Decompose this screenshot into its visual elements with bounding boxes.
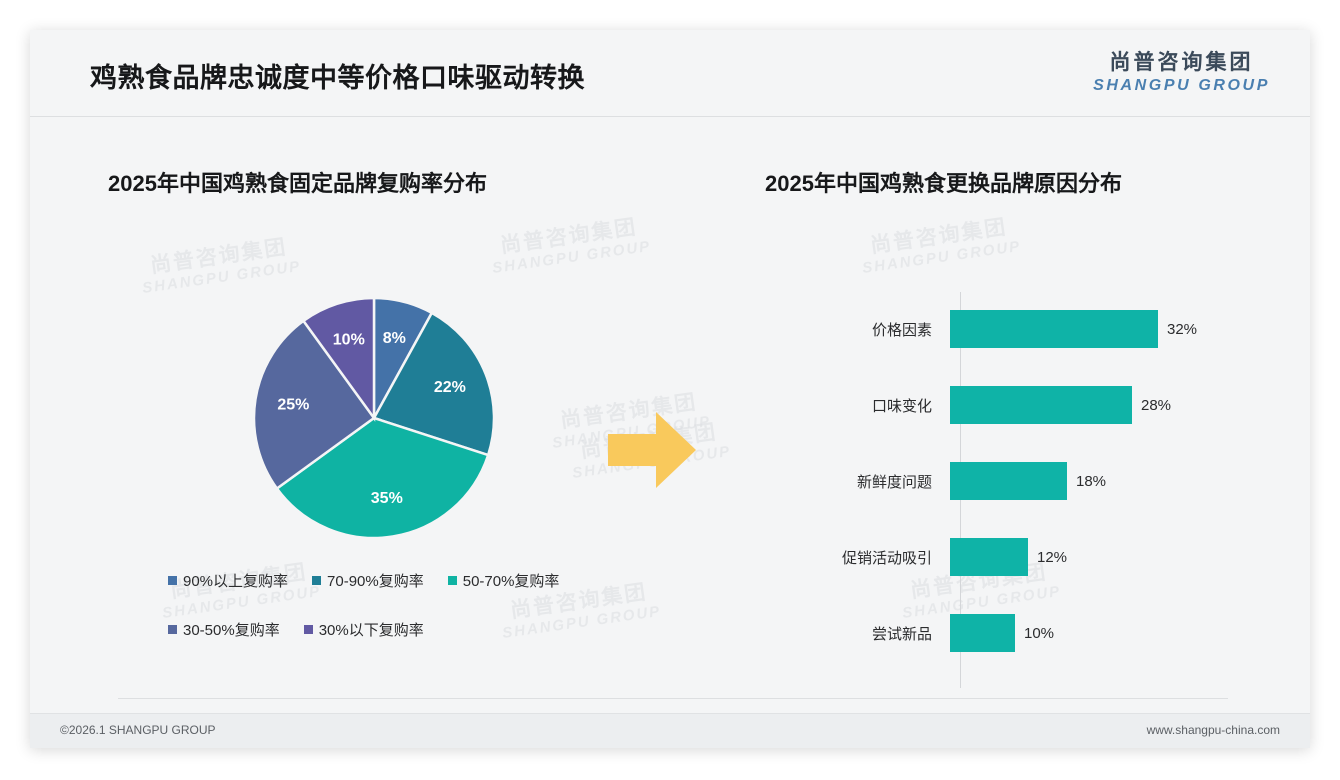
bar-value-label: 18% (1076, 473, 1106, 490)
bar-track: 12% (950, 538, 1275, 576)
bar-track: 18% (950, 462, 1275, 500)
footnote-divider (118, 698, 1228, 699)
bar-fill (950, 462, 1067, 500)
logo-english-text: SHANGPU GROUP (1093, 78, 1270, 94)
pie-chart-title: 2025年中国鸡熟食固定品牌复购率分布 (108, 166, 487, 198)
bar-category-label: 口味变化 (765, 395, 950, 416)
watermark-en: SHANGPU GROUP (491, 238, 652, 277)
bar-fill (950, 310, 1158, 348)
bar-value-label: 12% (1037, 549, 1067, 566)
arrow-right-icon (608, 408, 696, 492)
brand-logo: 尚普咨询集团 SHANGPU GROUP (1093, 52, 1270, 94)
bar-track: 28% (950, 386, 1275, 424)
bar-category-label: 促销活动吸引 (765, 547, 950, 568)
pie-chart-legend: 90%以上复购率70-90%复购率50-70%复购率 30-50%复购率30%以… (168, 570, 618, 640)
bar-fill (950, 538, 1028, 576)
legend-swatch (304, 625, 313, 634)
legend-item[interactable]: 30-50%复购率 (168, 619, 280, 640)
bar-chart-row: 尝试新品10% (765, 614, 1275, 652)
legend-item[interactable]: 90%以上复购率 (168, 570, 288, 591)
watermark: 尚普咨询集团 SHANGPU GROUP (858, 214, 1022, 277)
legend-row: 90%以上复购率70-90%复购率50-70%复购率 (168, 570, 618, 591)
watermark-cn: 尚普咨询集团 (138, 234, 300, 280)
pie-chart: 8%22%35%25%10% (252, 296, 496, 540)
legend-item[interactable]: 50-70%复购率 (448, 570, 560, 591)
bar-value-label: 32% (1167, 321, 1197, 338)
legend-row: 30-50%复购率30%以下复购率 (168, 619, 618, 640)
legend-label: 30%以下复购率 (319, 619, 424, 640)
legend-item[interactable]: 30%以下复购率 (304, 619, 424, 640)
watermark-cn: 尚普咨询集团 (858, 214, 1020, 260)
arrow-right-glyph (608, 408, 696, 492)
bar-chart-row: 口味变化28% (765, 386, 1275, 424)
bar-chart-row: 促销活动吸引12% (765, 538, 1275, 576)
watermark: 尚普咨询集团 SHANGPU GROUP (138, 234, 302, 297)
bar-track: 10% (950, 614, 1275, 652)
pie-slice-label: 25% (277, 396, 309, 413)
slide-header: 鸡熟食品牌忠诚度中等价格口味驱动转换 尚普咨询集团 SHANGPU GROUP (30, 30, 1310, 117)
bar-chart-row: 价格因素32% (765, 310, 1275, 348)
bar-fill (950, 386, 1132, 424)
bar-category-label: 尝试新品 (765, 623, 950, 644)
pie-slice-label: 35% (371, 490, 403, 507)
pie-chart-svg: 8%22%35%25%10% (252, 296, 496, 540)
legend-swatch (168, 576, 177, 585)
bar-chart-title: 2025年中国鸡熟食更换品牌原因分布 (765, 166, 1122, 198)
legend-swatch (168, 625, 177, 634)
bar-chart: 价格因素32%口味变化28%新鲜度问题18%促销活动吸引12%尝试新品10% (765, 292, 1275, 688)
watermark-cn: 尚普咨询集团 (488, 214, 650, 260)
slide-footer: ©2026.1 SHANGPU GROUP www.shangpu-china.… (30, 713, 1310, 748)
legend-item[interactable]: 70-90%复购率 (312, 570, 424, 591)
bar-value-label: 10% (1024, 625, 1054, 642)
bar-value-label: 28% (1141, 397, 1171, 414)
slide-canvas: 尚普咨询集团 SHANGPU GROUP 尚普咨询集团 SHANGPU GROU… (30, 30, 1310, 748)
page-title: 鸡熟食品牌忠诚度中等价格口味驱动转换 (90, 56, 585, 95)
legend-label: 30-50%复购率 (183, 619, 280, 640)
bar-category-label: 价格因素 (765, 319, 950, 340)
legend-label: 50-70%复购率 (463, 570, 560, 591)
pie-slice-label: 10% (333, 332, 365, 349)
copyright-text: ©2026.1 SHANGPU GROUP (60, 723, 216, 737)
watermark: 尚普咨询集团 SHANGPU GROUP (488, 214, 652, 277)
legend-label: 90%以上复购率 (183, 570, 288, 591)
logo-chinese-text: 尚普咨询集团 (1093, 52, 1270, 73)
website-link[interactable]: www.shangpu-china.com (1147, 723, 1280, 737)
legend-label: 70-90%复购率 (327, 570, 424, 591)
bar-chart-row: 新鲜度问题18% (765, 462, 1275, 500)
bar-track: 32% (950, 310, 1275, 348)
legend-swatch (312, 576, 321, 585)
bar-category-label: 新鲜度问题 (765, 471, 950, 492)
watermark-en: SHANGPU GROUP (141, 258, 302, 297)
watermark-en: SHANGPU GROUP (861, 238, 1022, 277)
pie-slice-label: 22% (434, 379, 466, 396)
bar-fill (950, 614, 1015, 652)
legend-swatch (448, 576, 457, 585)
pie-slice-label: 8% (383, 330, 406, 347)
